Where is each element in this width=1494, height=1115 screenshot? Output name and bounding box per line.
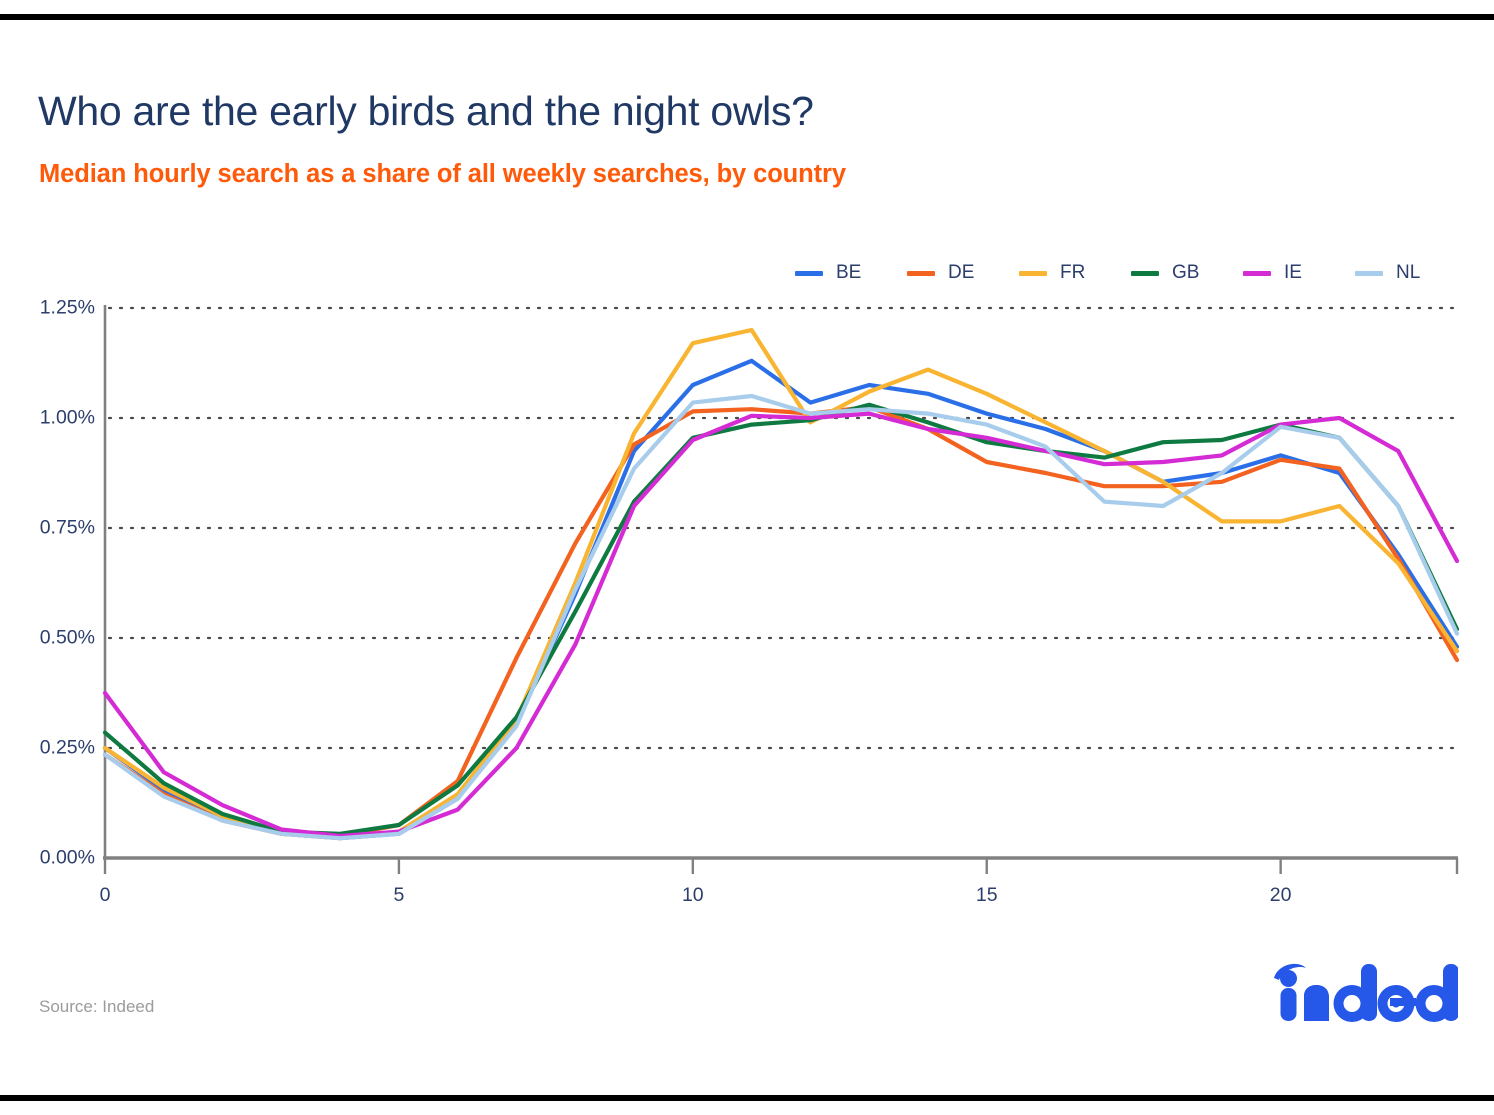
- x-tick-label: 15: [976, 884, 998, 907]
- chart-legend: BEDEFRGBIENL: [795, 262, 1467, 284]
- y-tick-label: 0.50%: [40, 627, 95, 650]
- legend-item-ie[interactable]: IE: [1243, 262, 1355, 284]
- top-rule: [0, 14, 1494, 20]
- legend-swatch-be: [795, 271, 823, 276]
- x-tick-label: 5: [393, 884, 404, 907]
- y-tick-label: 1.25%: [40, 297, 95, 320]
- legend-label-gb: GB: [1172, 262, 1199, 284]
- y-tick-label: 0.75%: [40, 517, 95, 540]
- indeed-logo: [1268, 962, 1458, 1024]
- legend-item-de[interactable]: DE: [907, 262, 1019, 284]
- series-line-de: [105, 407, 1457, 836]
- source-note: Source: Indeed: [39, 997, 154, 1017]
- bottom-rule: [0, 1095, 1494, 1101]
- series-line-nl: [105, 396, 1457, 838]
- legend-item-fr[interactable]: FR: [1019, 262, 1131, 284]
- page-title: Who are the early birds and the night ow…: [38, 88, 814, 135]
- legend-item-nl[interactable]: NL: [1355, 262, 1467, 284]
- legend-label-nl: NL: [1396, 262, 1420, 284]
- legend-swatch-fr: [1019, 271, 1047, 276]
- legend-label-ie: IE: [1284, 262, 1302, 284]
- legend-swatch-nl: [1355, 271, 1383, 276]
- x-tick-label: 20: [1270, 884, 1292, 907]
- series-line-gb: [105, 405, 1457, 834]
- legend-item-gb[interactable]: GB: [1131, 262, 1243, 284]
- series-line-ie: [105, 414, 1457, 836]
- series-line-be: [105, 361, 1457, 838]
- x-tick-label: 0: [100, 884, 111, 907]
- page-subtitle: Median hourly search as a share of all w…: [39, 160, 846, 189]
- legend-label-fr: FR: [1060, 262, 1085, 284]
- y-axis-tick-labels: 0.00%0.25%0.50%0.75%1.00%1.25%: [0, 0, 95, 1115]
- y-tick-label: 0.00%: [40, 847, 95, 870]
- y-tick-label: 1.00%: [40, 407, 95, 430]
- legend-swatch-gb: [1131, 271, 1159, 276]
- legend-label-de: DE: [948, 262, 974, 284]
- legend-item-be[interactable]: BE: [795, 262, 907, 284]
- y-tick-label: 0.25%: [40, 737, 95, 760]
- legend-label-be: BE: [836, 262, 861, 284]
- series-line-fr: [105, 330, 1457, 838]
- x-tick-label: 10: [682, 884, 704, 907]
- legend-swatch-ie: [1243, 271, 1271, 276]
- legend-swatch-de: [907, 271, 935, 276]
- slide-canvas: Who are the early birds and the night ow…: [0, 0, 1494, 1115]
